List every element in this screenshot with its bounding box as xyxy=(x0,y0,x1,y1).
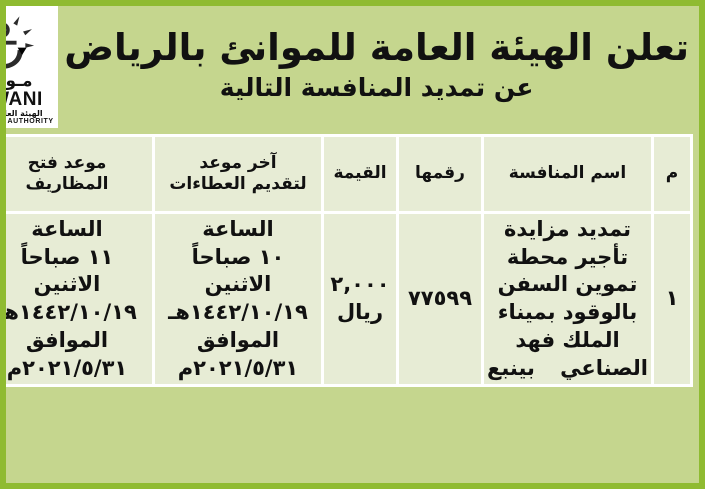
envelope-opening-line1: الساعة xyxy=(0,216,149,244)
cell-tender-value-currency: ريال xyxy=(327,299,393,327)
bid-deadline-line4: ١٤٤٢/١٠/١٩هـ xyxy=(158,299,318,327)
logo-arabic-wordmark: مـوانـئ xyxy=(0,73,33,90)
cell-row-index: ١ xyxy=(654,214,690,384)
envelope-opening-line4: ١٤٤٢/١٠/١٩هـ xyxy=(0,299,149,327)
logo-arabic-subtitle: الهيئة العامة للموانئ xyxy=(0,110,43,119)
cell-envelope-opening: الساعة ١١ صباحاً الاثنين ١٤٤٢/١٠/١٩هـ ال… xyxy=(0,214,152,384)
bid-deadline-line5: الموافق xyxy=(158,327,318,355)
logo-english-wordmark: MAWANI xyxy=(0,90,43,110)
table-header-row: م اسم المنافسة رقمها القيمة آخر موعد لتق… xyxy=(0,137,690,211)
page-title: تعلن الهيئة العامة للموانئ بالرياض xyxy=(64,27,689,68)
poster-header: تعلن الهيئة العامة للموانئ بالرياض عن تم… xyxy=(6,6,699,128)
cell-bid-deadline: الساعة ١٠ صباحاً الاثنين ١٤٤٢/١٠/١٩هـ ال… xyxy=(155,214,321,384)
anchor-with-rays-icon xyxy=(0,12,41,72)
cell-tender-value: ٢,٠٠٠ ريال xyxy=(324,214,396,384)
envelope-opening-line3: الاثنين xyxy=(0,271,149,299)
envelope-opening-line5: الموافق xyxy=(0,327,149,355)
column-header-tender-number: رقمها xyxy=(399,137,481,211)
column-header-tender-name: اسم المنافسة xyxy=(484,137,651,211)
column-header-envelope-opening: موعد فتح المظاريف xyxy=(0,137,152,211)
envelope-opening-line2: ١١ صباحاً xyxy=(0,244,149,272)
bid-deadline-line6: ٢٠٢١/٥/٣١م xyxy=(158,355,318,383)
envelope-opening-line6: ٢٠٢١/٥/٣١م xyxy=(0,355,149,383)
page-subtitle: عن تمديد المنافسة التالية xyxy=(220,73,534,103)
bid-deadline-line1: الساعة xyxy=(158,216,318,244)
cell-tender-value-amount: ٢,٠٠٠ xyxy=(327,271,393,299)
mawani-logo: مـوانـئ MAWANI الهيئة العامة للموانئ SAU… xyxy=(0,6,58,128)
cell-tender-number: ٧٧٥٩٩ xyxy=(399,214,481,384)
column-header-index: م xyxy=(654,137,690,211)
cell-tender-name: تمديد مزايدة تأجير محطة تموين السفن بالو… xyxy=(484,214,651,384)
tender-notice-poster: تعلن الهيئة العامة للموانئ بالرياض عن تم… xyxy=(0,0,705,489)
bid-deadline-line3: الاثنين xyxy=(158,271,318,299)
column-header-bid-deadline-line2: لتقديم العطاءات xyxy=(158,174,318,195)
table-row: ١ تمديد مزايدة تأجير محطة تموين السفن با… xyxy=(0,214,690,384)
bid-deadline-line2: ١٠ صباحاً xyxy=(158,244,318,272)
column-header-value: القيمة xyxy=(324,137,396,211)
header-title-block: تعلن الهيئة العامة للموانئ بالرياض عن تم… xyxy=(58,6,699,128)
tender-table: م اسم المنافسة رقمها القيمة آخر موعد لتق… xyxy=(0,134,693,387)
column-header-bid-deadline: آخر موعد لتقديم العطاءات xyxy=(155,137,321,211)
column-header-bid-deadline-line1: آخر موعد xyxy=(158,153,318,174)
logo-english-subtitle: SAUDI PORTS AUTHORITY xyxy=(0,118,54,126)
